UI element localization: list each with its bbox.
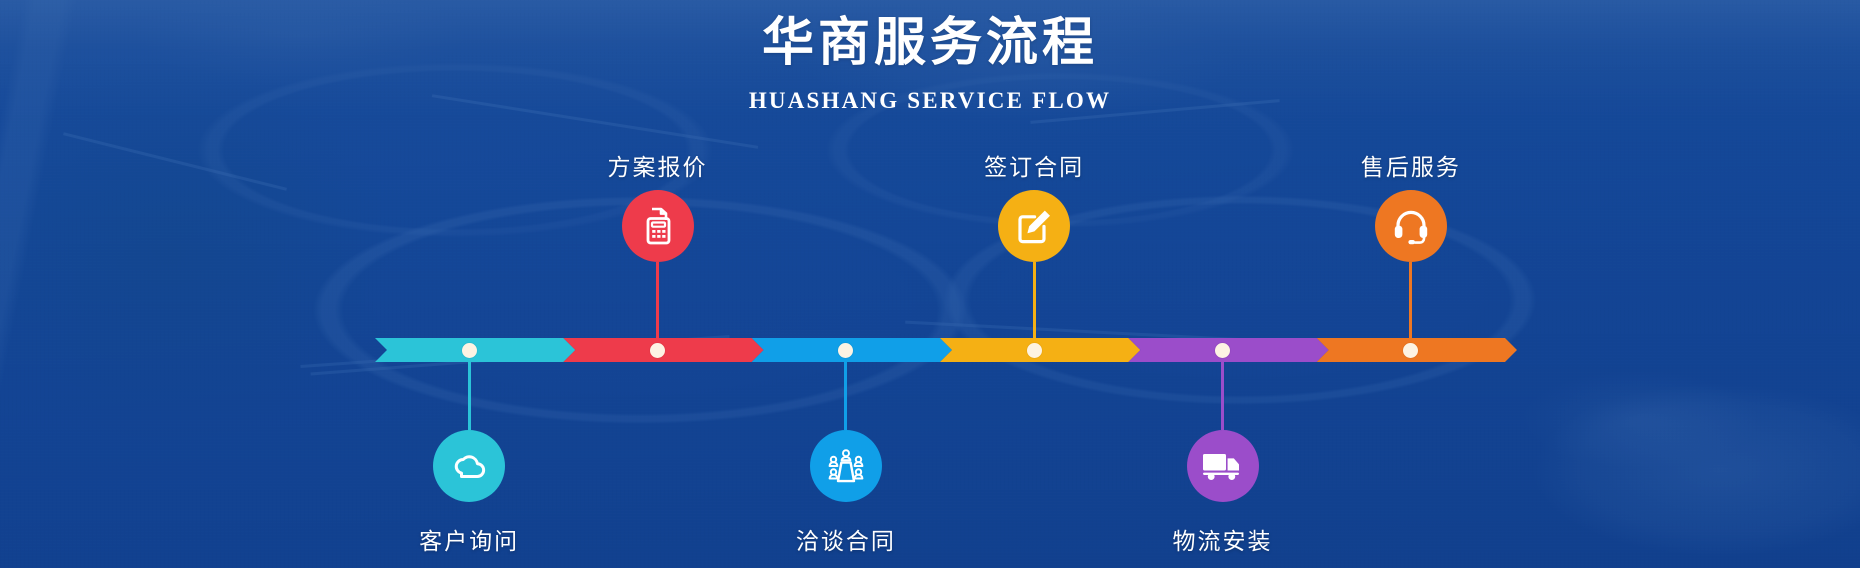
meeting-table-icon xyxy=(826,447,866,485)
flow-step-chevron[interactable] xyxy=(1317,338,1517,362)
headset-support-icon xyxy=(1391,206,1431,246)
flow-step-label: 物流安装 xyxy=(1123,522,1323,556)
flow-step-connector-line xyxy=(468,362,471,430)
flow-step-icon-bubble[interactable] xyxy=(998,190,1070,262)
flow-step-label: 售后服务 xyxy=(1311,148,1511,182)
sign-pencil-icon xyxy=(1014,206,1054,246)
cloud-icon xyxy=(449,446,489,486)
flow-step-connector-line xyxy=(1033,262,1036,338)
banner-heading-group: 华商服务流程 HUASHANG SERVICE FLOW xyxy=(0,14,1860,114)
flow-step-label: 洽谈合同 xyxy=(746,522,946,556)
flow-step-node-dot xyxy=(1215,343,1230,358)
flow-step-icon-bubble[interactable] xyxy=(1187,430,1259,502)
flow-step-chevron[interactable] xyxy=(940,338,1140,362)
page-subtitle: HUASHANG SERVICE FLOW xyxy=(0,88,1860,114)
flow-step-chevron[interactable] xyxy=(563,338,763,362)
flow-step-icon-bubble[interactable] xyxy=(1375,190,1447,262)
flow-step-connector-line xyxy=(1409,262,1412,338)
flow-step-node-dot xyxy=(1403,343,1418,358)
flow-step-connector-line xyxy=(656,262,659,338)
flow-step-icon-bubble[interactable] xyxy=(622,190,694,262)
flow-step-connector-line xyxy=(844,362,847,430)
flow-step-icon-bubble[interactable] xyxy=(433,430,505,502)
flow-step-label: 签订合同 xyxy=(934,148,1134,182)
flow-step-chevron[interactable] xyxy=(1128,338,1328,362)
flow-step-label: 方案报价 xyxy=(558,148,758,182)
delivery-truck-icon xyxy=(1201,449,1245,483)
flow-step-chevron[interactable] xyxy=(752,338,952,362)
flow-step-chevron[interactable] xyxy=(375,338,575,362)
page-title: 华商服务流程 xyxy=(0,14,1860,74)
flow-step-label: 客户询问 xyxy=(369,522,569,556)
flow-step-node-dot xyxy=(838,343,853,358)
calculator-receipt-icon xyxy=(639,206,677,246)
flow-step-connector-line xyxy=(1221,362,1224,430)
flow-step-node-dot xyxy=(462,343,477,358)
flow-step-node-dot xyxy=(1027,343,1042,358)
flow-step-node-dot xyxy=(650,343,665,358)
flow-step-icon-bubble[interactable] xyxy=(810,430,882,502)
